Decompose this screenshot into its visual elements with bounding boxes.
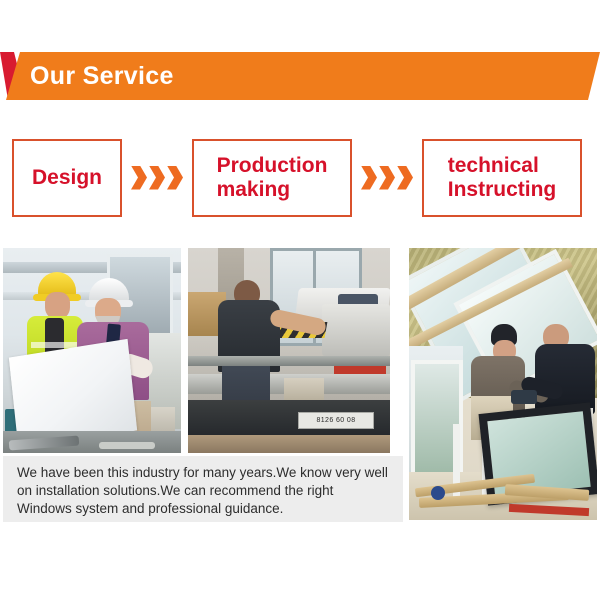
photo-technical-installation xyxy=(409,248,597,520)
service-caption: We have been this industry for many year… xyxy=(3,456,403,522)
photo-1-scene xyxy=(3,248,181,453)
machine-plate-text: 8126 60 08 xyxy=(316,417,355,424)
service-caption-text: We have been this industry for many year… xyxy=(17,464,391,518)
chevron-right-icon xyxy=(167,166,183,190)
machine-rail xyxy=(188,356,390,366)
cutting-saw-body xyxy=(322,304,390,356)
photo-design-consultation xyxy=(3,248,181,453)
red-stock-profile xyxy=(334,366,386,374)
chevron-arrows-1 xyxy=(131,166,183,190)
page-title: Our Service xyxy=(30,64,174,89)
service-banner: Our Service xyxy=(0,52,600,100)
hand-tools xyxy=(99,442,155,449)
step-label-technical-instructing: technical Instructing xyxy=(448,154,557,201)
photo-production-machine: 8126 60 08 xyxy=(188,248,390,453)
step-label-design: Design xyxy=(32,166,102,190)
blue-tape-roll xyxy=(431,486,445,500)
photo-3-scene xyxy=(409,248,597,520)
chevron-right-icon xyxy=(361,166,377,190)
step-box-design[interactable]: Design xyxy=(12,139,122,217)
step-label-production-making: Production making xyxy=(217,154,328,201)
chevron-right-icon xyxy=(131,166,147,190)
step-box-technical-instructing[interactable]: technical Instructing xyxy=(422,139,582,217)
photo-2-scene: 8126 60 08 xyxy=(188,248,390,453)
chevron-arrows-2 xyxy=(361,166,413,190)
machine-number-plate: 8126 60 08 xyxy=(298,412,374,429)
power-drill xyxy=(511,390,537,404)
chevron-right-icon xyxy=(397,166,413,190)
service-steps-row: Design Production making technical Instr… xyxy=(0,125,600,230)
factory-floor xyxy=(188,435,390,453)
chevron-right-icon xyxy=(149,166,165,190)
banner-orange-bar: Our Service xyxy=(6,52,600,100)
chevron-right-icon xyxy=(379,166,395,190)
step-box-production-making[interactable]: Production making xyxy=(192,139,352,217)
